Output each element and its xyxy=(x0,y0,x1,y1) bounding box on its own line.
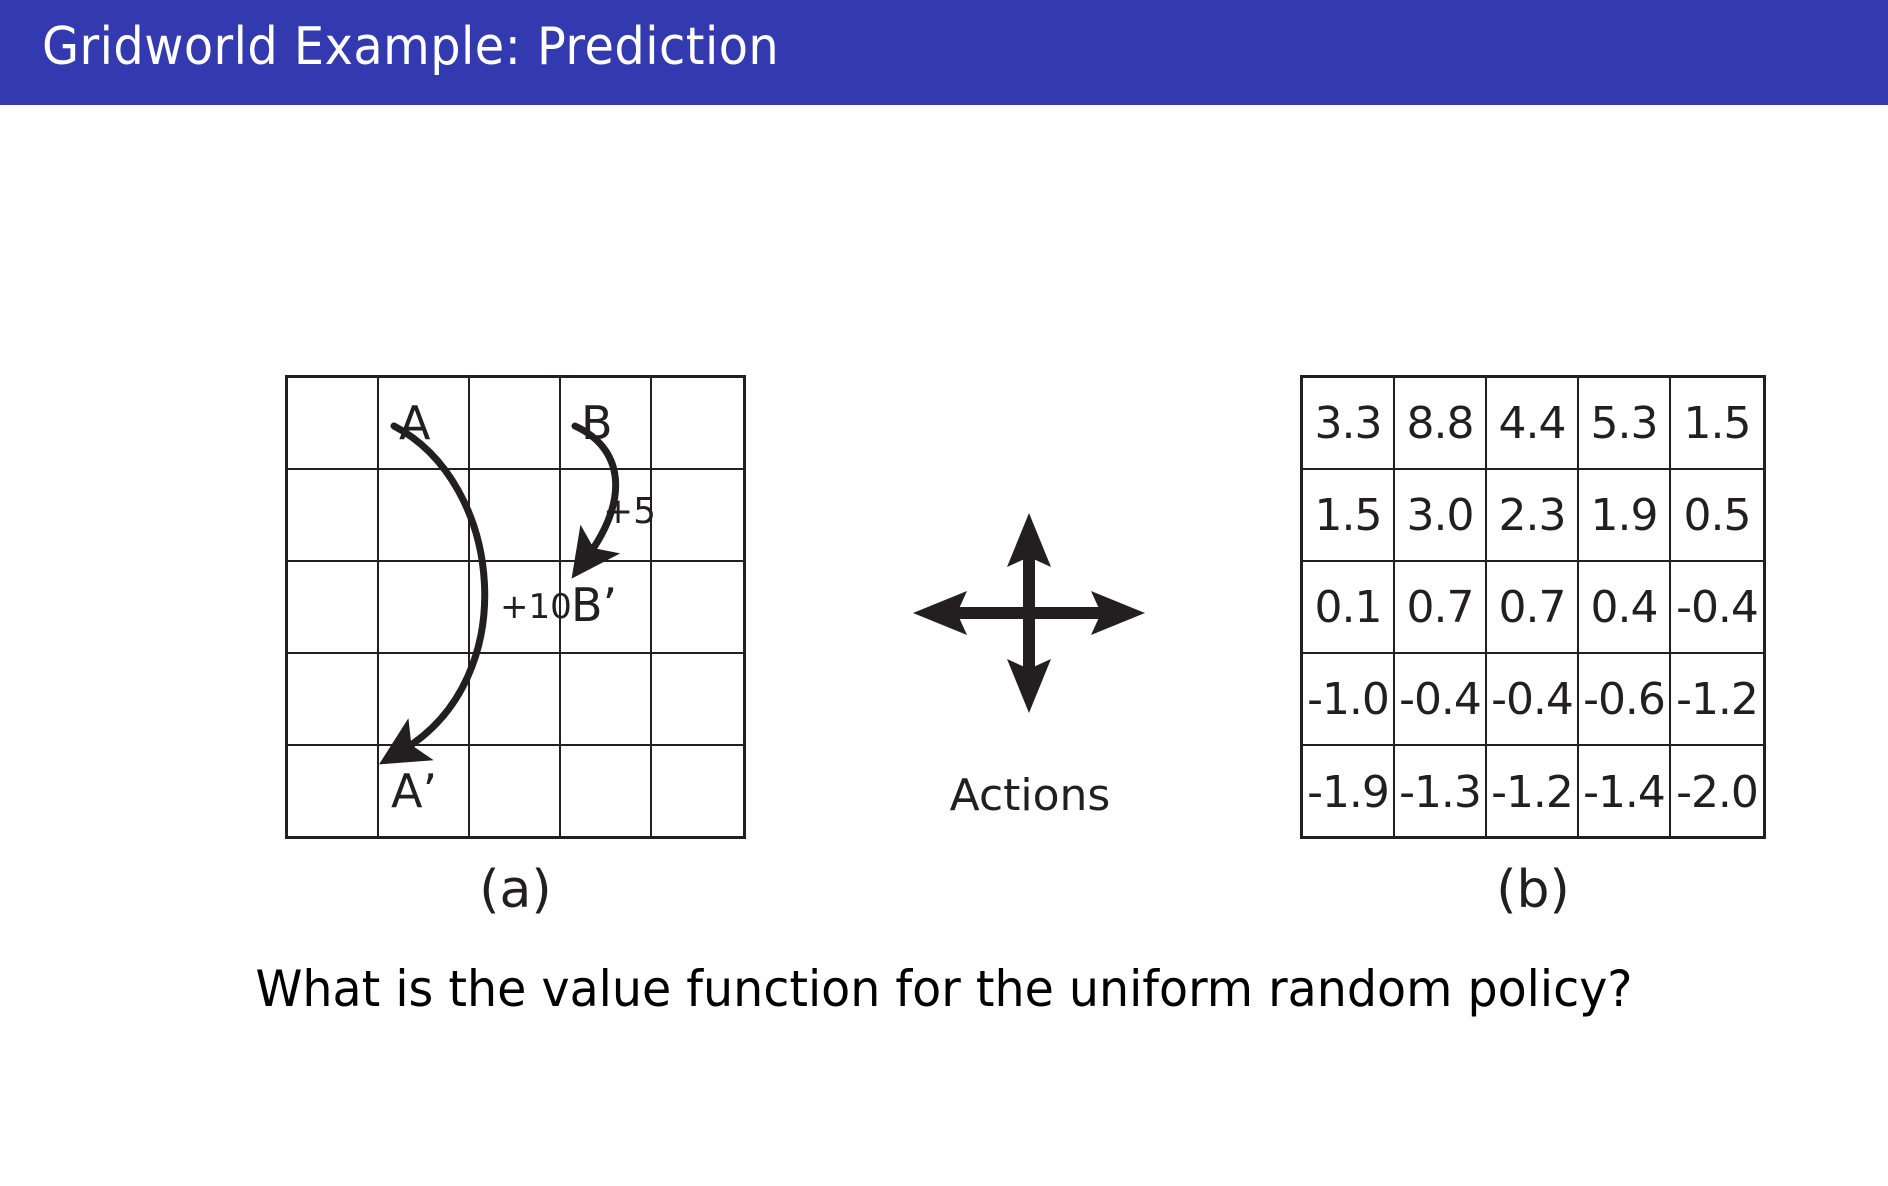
value-cell: -0.4 xyxy=(1395,654,1487,746)
grid-row: +10 B’ xyxy=(288,562,743,654)
grid-row: +5 xyxy=(288,470,743,562)
state-label-b: B xyxy=(581,400,613,446)
table-row: -1.9 -1.3 -1.2 -1.4 -2.0 xyxy=(1303,746,1763,838)
state-label-a: A xyxy=(399,400,430,446)
grid-cell xyxy=(379,562,470,654)
grid-cell xyxy=(470,378,561,470)
value-cell: 3.3 xyxy=(1303,378,1395,470)
grid-cell xyxy=(470,470,561,562)
grid-cell xyxy=(379,654,470,746)
grid-cell xyxy=(470,746,561,838)
table-row: -1.0 -0.4 -0.4 -0.6 -1.2 xyxy=(1303,654,1763,746)
grid-cell xyxy=(652,654,743,746)
grid-cell-reward-b: +5 xyxy=(561,470,652,562)
value-cell: 4.4 xyxy=(1487,378,1579,470)
four-way-arrow-icon xyxy=(905,505,1155,720)
value-cell: 1.9 xyxy=(1579,470,1671,562)
grid-cell xyxy=(288,470,379,562)
grid-cell-b-source: B xyxy=(561,378,652,470)
grid-cell-a-source: A xyxy=(379,378,470,470)
grid-cell-reward-a: +10 xyxy=(470,562,561,654)
value-cell: -0.6 xyxy=(1579,654,1671,746)
grid-cell xyxy=(561,746,652,838)
table-row: 0.1 0.7 0.7 0.4 -0.4 xyxy=(1303,562,1763,654)
state-label-b-prime: B’ xyxy=(571,582,617,628)
value-cell: 0.5 xyxy=(1671,470,1763,562)
grid-row: A’ xyxy=(288,746,743,838)
value-cell: -1.0 xyxy=(1303,654,1395,746)
grid-cell xyxy=(652,470,743,562)
grid-cell xyxy=(652,378,743,470)
value-cell: -2.0 xyxy=(1671,746,1763,838)
value-cell: 1.5 xyxy=(1671,378,1763,470)
figure-caption-a: (a) xyxy=(285,860,746,920)
gridworld-dynamics-figure: A B +5 +10 xyxy=(285,375,746,839)
value-cell: -1.9 xyxy=(1303,746,1395,838)
value-cell: 2.3 xyxy=(1487,470,1579,562)
grid-row xyxy=(288,654,743,746)
grid-cell xyxy=(652,562,743,654)
value-cell: 0.4 xyxy=(1579,562,1671,654)
value-cell: 0.1 xyxy=(1303,562,1395,654)
value-cell: -1.3 xyxy=(1395,746,1487,838)
grid-cell-b-prime: B’ xyxy=(561,562,652,654)
gridworld-grid-a: A B +5 +10 xyxy=(285,375,746,839)
grid-cell xyxy=(561,654,652,746)
value-cell: 0.7 xyxy=(1395,562,1487,654)
grid-row: A B xyxy=(288,378,743,470)
value-cell: -1.2 xyxy=(1671,654,1763,746)
page-title: Gridworld Example: Prediction xyxy=(42,17,779,77)
slide-title-bar: Gridworld Example: Prediction xyxy=(0,0,1888,105)
grid-cell xyxy=(288,378,379,470)
value-cell: 1.5 xyxy=(1303,470,1395,562)
table-row: 3.3 8.8 4.4 5.3 1.5 xyxy=(1303,378,1763,470)
value-cell: -1.4 xyxy=(1579,746,1671,838)
reward-label-b: +5 xyxy=(603,494,656,530)
slide-content: A B +5 +10 xyxy=(0,105,1888,1186)
grid-cell xyxy=(288,654,379,746)
value-cell: 8.8 xyxy=(1395,378,1487,470)
actions-figure: Actions xyxy=(905,505,1155,821)
value-cell: -0.4 xyxy=(1671,562,1763,654)
value-cell: 5.3 xyxy=(1579,378,1671,470)
value-grid-b: 3.3 8.8 4.4 5.3 1.5 1.5 3.0 2.3 1.9 0.5 … xyxy=(1300,375,1766,839)
value-cell: -0.4 xyxy=(1487,654,1579,746)
figure-caption-b: (b) xyxy=(1300,860,1766,920)
grid-cell xyxy=(379,470,470,562)
value-cell: -1.2 xyxy=(1487,746,1579,838)
question-text: What is the value function for the unifo… xyxy=(47,960,1841,1018)
grid-cell xyxy=(288,562,379,654)
value-function-figure: 3.3 8.8 4.4 5.3 1.5 1.5 3.0 2.3 1.9 0.5 … xyxy=(1300,375,1766,839)
state-label-a-prime: A’ xyxy=(391,768,437,814)
grid-cell xyxy=(470,654,561,746)
table-row: 1.5 3.0 2.3 1.9 0.5 xyxy=(1303,470,1763,562)
grid-cell xyxy=(288,746,379,838)
actions-label: Actions xyxy=(905,770,1155,821)
grid-cell-a-prime: A’ xyxy=(379,746,470,838)
grid-cell xyxy=(652,746,743,838)
value-cell: 0.7 xyxy=(1487,562,1579,654)
value-cell: 3.0 xyxy=(1395,470,1487,562)
